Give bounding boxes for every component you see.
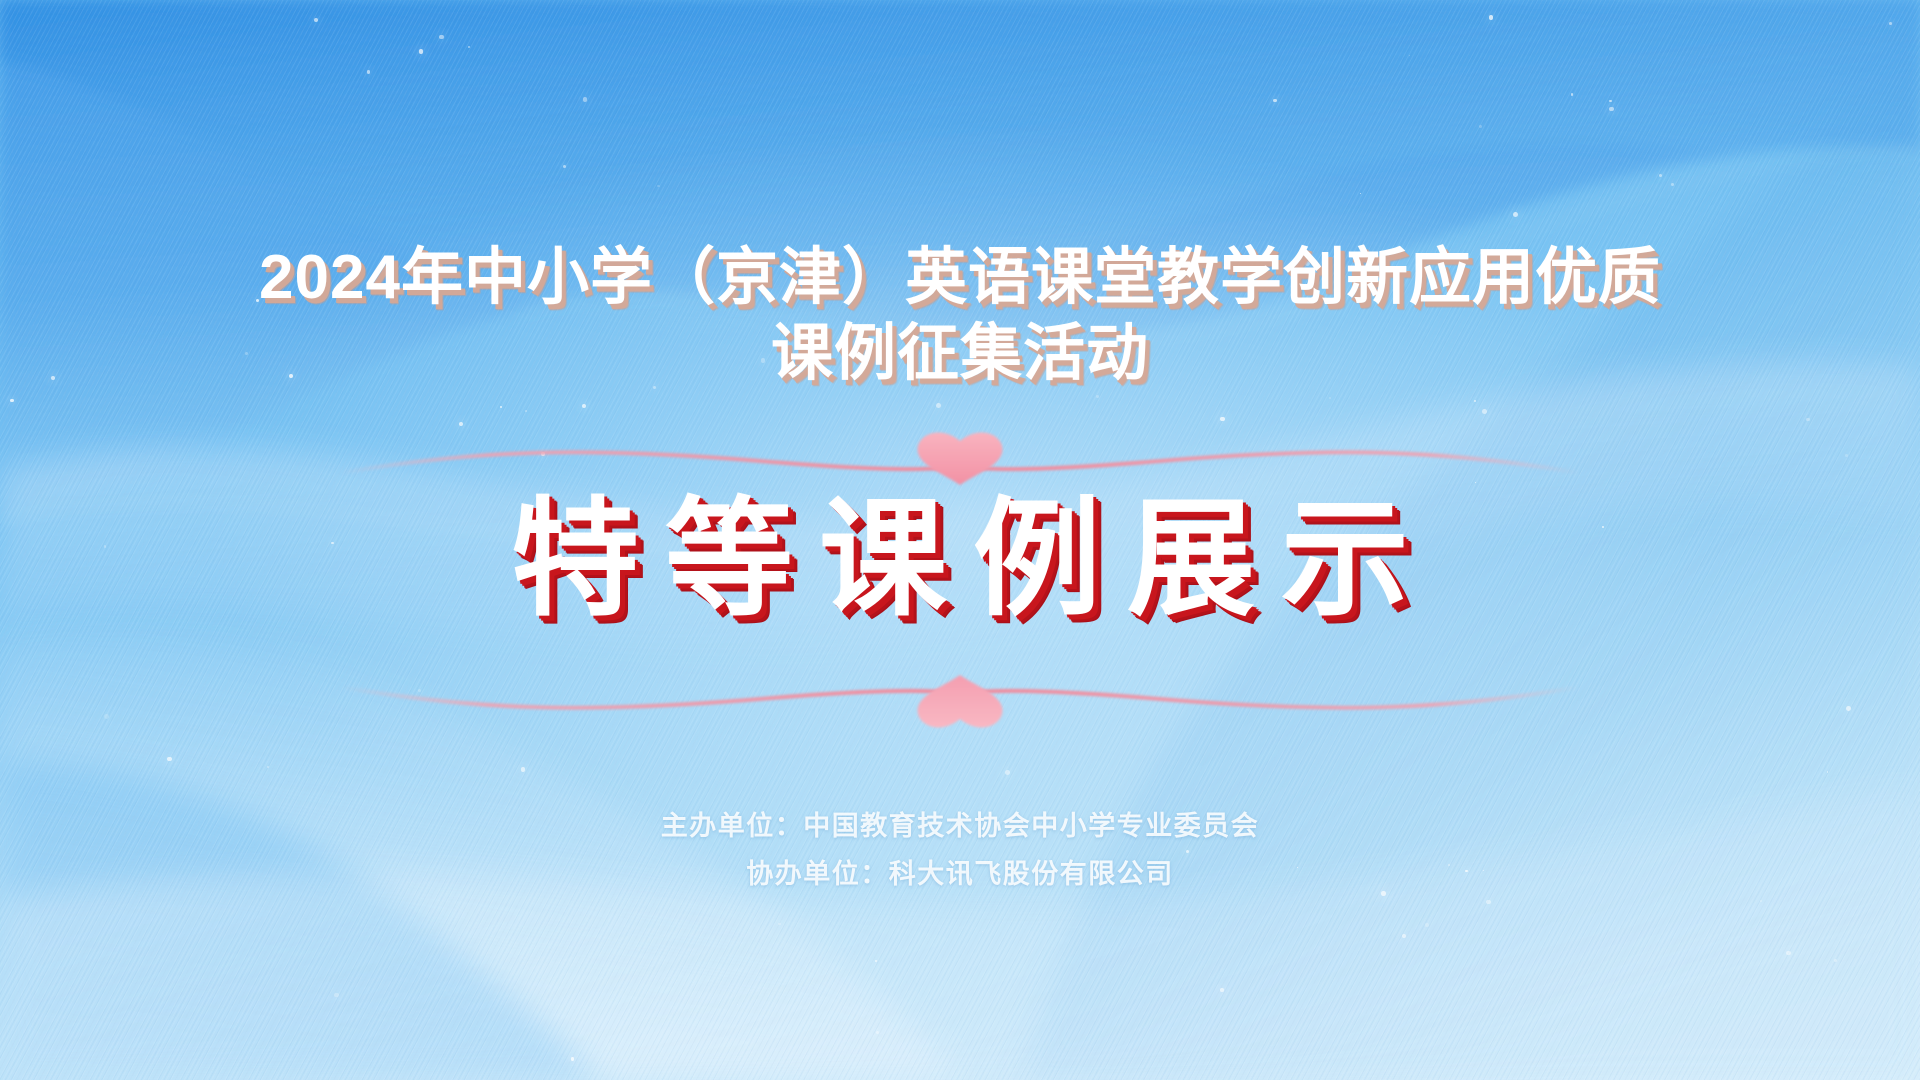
organizer-line-host: 主办单位：中国教育技术协会中小学专业委员会 bbox=[661, 803, 1260, 850]
divider-bottom-svg bbox=[340, 669, 1580, 727]
event-title-line-1: 2024年中小学（京津）英语课堂教学创新应用优质 bbox=[0, 240, 1920, 316]
event-title-line-2: 课例征集活动 bbox=[0, 316, 1920, 392]
divider-bottom bbox=[340, 669, 1580, 727]
divider-top bbox=[340, 433, 1580, 491]
divider-top-svg bbox=[340, 433, 1580, 491]
event-title: 2024年中小学（京津）英语课堂教学创新应用优质 课例征集活动 bbox=[0, 240, 1920, 391]
slide-content: 2024年中小学（京津）英语课堂教学创新应用优质 课例征集活动 bbox=[0, 0, 1920, 1080]
slide-canvas: 2024年中小学（京津）英语课堂教学创新应用优质 课例征集活动 bbox=[0, 0, 1920, 1080]
headline-text: 特等课例展示 bbox=[485, 491, 1435, 629]
organizer-line-coorganizer: 协办单位：科大讯飞股份有限公司 bbox=[661, 851, 1260, 898]
heart-icon-bottom bbox=[918, 675, 1003, 727]
organizer-info: 主办单位：中国教育技术协会中小学专业委员会 协办单位：科大讯飞股份有限公司 bbox=[661, 803, 1260, 898]
heart-icon-top bbox=[918, 433, 1003, 485]
